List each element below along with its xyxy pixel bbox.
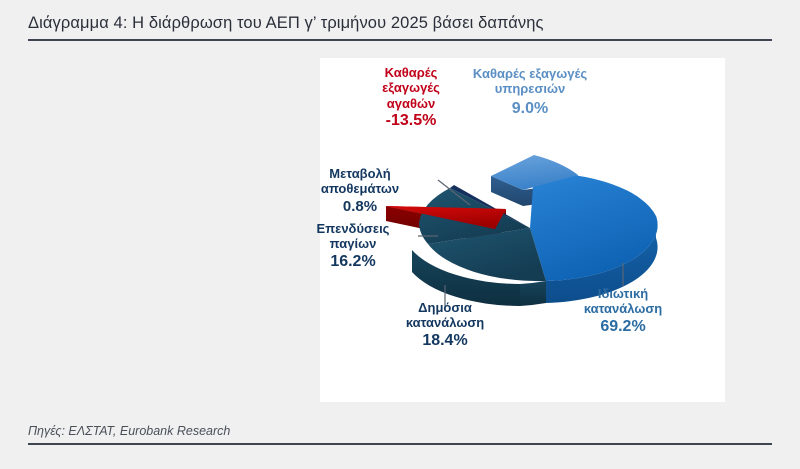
page-title: Διάγραμμα 4: Η διάρθρωση του ΑΕΠ γ’ τριμ… (28, 14, 772, 39)
pie-label-public-consumption-line1: Δημόσια (380, 300, 510, 315)
pie-label-inventories: Μεταβολή αποθεμάτων 0.8% (305, 166, 415, 215)
chart-panel: Καθαρές εξαγωγές αγαθών -13.5% Καθαρές ε… (320, 58, 725, 402)
pie-chart: Καθαρές εξαγωγές αγαθών -13.5% Καθαρές ε… (320, 58, 725, 402)
pie-value-public-consumption: 18.4% (380, 332, 510, 351)
source-note: Πηγές: ΕΛΣΤΑΤ, Eurobank Research (28, 424, 772, 443)
title-divider (28, 39, 772, 41)
source-divider (28, 443, 772, 445)
slice-side-fixed-investment (520, 281, 546, 306)
figure-title-block: Διάγραμμα 4: Η διάρθρωση του ΑΕΠ γ’ τριμ… (28, 14, 772, 41)
pie-label-fixed-investment: Επενδύσεις παγίων 16.2% (298, 221, 408, 272)
pie-label-inventories-line1: Μεταβολή (305, 166, 415, 181)
pie-value-net-exports-services: 9.0% (450, 100, 610, 119)
pie-label-private-consumption: Ιδιωτική κατανάλωση 69.2% (553, 286, 693, 337)
pie-label-public-consumption: Δημόσια κατανάλωση 18.4% (380, 300, 510, 351)
pie-label-net-exports-services-line2: υπηρεσιών (450, 81, 610, 96)
pie-value-private-consumption: 69.2% (553, 318, 693, 337)
pie-value-inventories: 0.8% (305, 198, 415, 216)
pie-label-inventories-line2: αποθεμάτων (305, 181, 415, 196)
pie-label-private-consumption-line2: κατανάλωση (553, 301, 693, 316)
pie-label-public-consumption-line2: κατανάλωση (380, 315, 510, 330)
pie-label-fixed-investment-line1: Επενδύσεις (298, 221, 408, 236)
pie-label-net-exports-services-line1: Καθαρές εξαγωγές (450, 66, 610, 81)
pie-value-fixed-investment: 16.2% (298, 253, 408, 272)
source-block: Πηγές: ΕΛΣΤΑΤ, Eurobank Research (28, 424, 772, 445)
pie-label-private-consumption-line1: Ιδιωτική (553, 286, 693, 301)
pie-label-net-exports-services: Καθαρές εξαγωγές υπηρεσιών 9.0% (450, 66, 610, 119)
pie-label-fixed-investment-line2: παγίων (298, 236, 408, 251)
